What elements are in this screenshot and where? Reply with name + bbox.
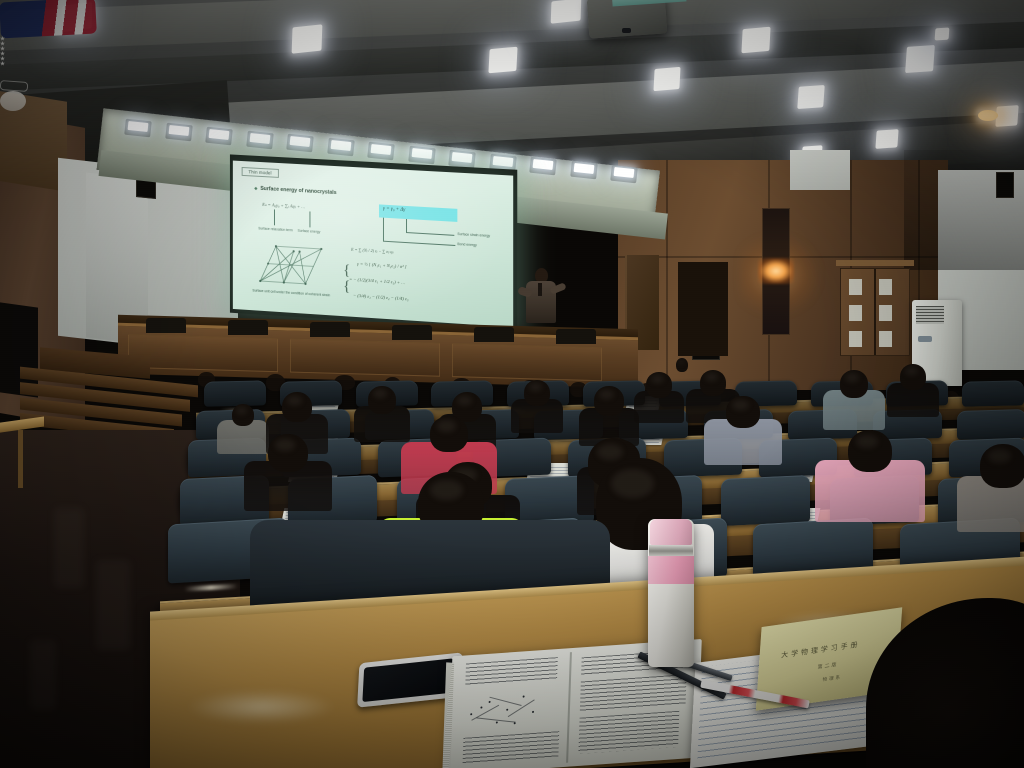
book-text-block — [578, 711, 679, 754]
slide-leader-line — [383, 241, 455, 246]
ceiling-light-icon — [653, 67, 680, 91]
slide-equation-5: − (3/4) ε₁ − (1/2) ε₂ − (1/4) ε₃ — [353, 293, 408, 302]
soffit-light-icon — [209, 129, 230, 140]
projector-lens-icon — [622, 28, 631, 33]
book-spine — [566, 652, 572, 763]
stage-chair — [392, 325, 432, 340]
slide-arrow-label-2: Surface energy — [298, 229, 321, 235]
ac-brand-badge — [918, 336, 932, 342]
flag-jacket-pattern — [0, 0, 97, 38]
student-floral-jacket-hair-sheen — [732, 400, 749, 410]
soffit-light-icon — [411, 148, 432, 159]
seat-back[interactable] — [957, 409, 1024, 440]
lecture-hall-photo: Thin model Surface energy of nanocrystal… — [0, 0, 1024, 768]
slide-equation-4: = − (1/2)(3/4 ε₁ + 1/2 ε₂) + … — [349, 277, 405, 286]
smartphone-screen — [362, 658, 453, 702]
ceiling-light-icon — [488, 47, 517, 74]
slide-section-heading: Surface energy of nanocrystals — [254, 185, 336, 196]
stage-chair — [556, 329, 596, 344]
slide-diagram-caption: Surface unit cell under the condition of… — [252, 288, 330, 297]
slide-arrow-label-1: Surface relaxation term — [258, 226, 292, 232]
ceiling-light-icon — [905, 45, 935, 73]
book-text-block — [465, 657, 558, 686]
student-yellow-jacket-hair-sheen — [430, 480, 463, 500]
slide-callout-2: Bond energy — [457, 242, 476, 247]
ceiling-light-icon — [292, 24, 323, 53]
soffit-light-icon — [492, 155, 513, 166]
slide-arrow — [383, 218, 384, 241]
student-red-hoodie-hair-sheen — [437, 420, 456, 432]
yellow-booklet-title: 大学物理学习手册 — [781, 639, 861, 660]
yellow-booklet-subtitle: 第二版 — [817, 661, 838, 671]
warm-wall-light-icon — [758, 258, 794, 284]
double-doors[interactable] — [840, 268, 910, 356]
slide-lattice-diagram — [254, 239, 327, 289]
thermos-cap[interactable] — [650, 519, 692, 545]
yellow-booklet-department: 物理系 — [822, 674, 842, 683]
ceiling-light-icon — [741, 27, 770, 54]
soffit-light-icon — [371, 144, 392, 155]
stage-chair — [310, 322, 350, 337]
corner-shadow — [904, 150, 1024, 270]
book-diagram — [466, 685, 553, 731]
slide-arrow — [274, 209, 275, 225]
slide-equation-2: E = ∑ (Nᵢ / 2) εᵢ − ∑ nⱼ φⱼ — [351, 247, 393, 255]
slide-main-equation: Eₛ = A₀γ₀ + ∑ᵢ Aᵢγᵢ + … — [262, 202, 305, 210]
seat-back[interactable] — [962, 380, 1024, 406]
soffit-light-icon — [614, 167, 635, 178]
wall-speaker-right-icon — [996, 172, 1014, 198]
hair-accessory — [0, 91, 26, 111]
thermos-pink-band — [648, 556, 694, 584]
slide-brace: { — [343, 278, 350, 295]
stage-chair — [146, 318, 186, 333]
stage-chair — [228, 320, 268, 335]
slide-header-tab: Thin model — [242, 167, 279, 178]
slide-arrow — [309, 211, 310, 227]
door-header-trim — [836, 260, 914, 266]
right-wall-panel-upper — [790, 150, 850, 190]
book-text-block — [580, 674, 687, 712]
student-mid-row-hair-sheen — [275, 439, 295, 451]
slide-leader-line — [406, 232, 454, 236]
ceiling-light-icon — [797, 85, 824, 109]
ceiling-light-icon — [551, 0, 582, 24]
thermos-chrome-ring — [649, 545, 693, 556]
ceiling-light-icon — [875, 129, 898, 149]
slide-equation-3: γ = ½ [ (N₁ε₁ + N₂ε₂) / a² ] — [357, 261, 406, 269]
book-text-block — [463, 731, 560, 764]
projection-screen[interactable]: Thin model Surface energy of nanocrystal… — [233, 161, 513, 328]
floor-reflection — [30, 640, 56, 710]
ac-vent-grille-icon — [916, 306, 944, 324]
warm-downlight-icon — [978, 110, 998, 121]
soffit-light-icon — [128, 121, 149, 132]
seat-back[interactable] — [204, 380, 266, 406]
desk-light-glare — [186, 690, 336, 724]
slide-brace: { — [343, 262, 350, 279]
student-grey-sweater-hair-sheen — [236, 407, 247, 414]
presenter-tie — [538, 283, 542, 296]
soffit-light-icon — [249, 132, 270, 143]
slide-callout-1: Surface strain energy — [457, 232, 490, 238]
seat-back[interactable] — [721, 474, 810, 525]
ceiling-light-icon — [935, 27, 950, 40]
soffit-light-icon — [452, 152, 473, 163]
wall-alcove — [678, 262, 728, 356]
floor-reflection — [96, 560, 130, 650]
presenter — [520, 268, 564, 330]
soffit-light-icon — [168, 125, 189, 136]
stage-chair — [474, 327, 514, 342]
slide-arrow — [406, 219, 407, 232]
side-table-leg — [18, 430, 23, 488]
floor-reflection — [54, 508, 84, 588]
